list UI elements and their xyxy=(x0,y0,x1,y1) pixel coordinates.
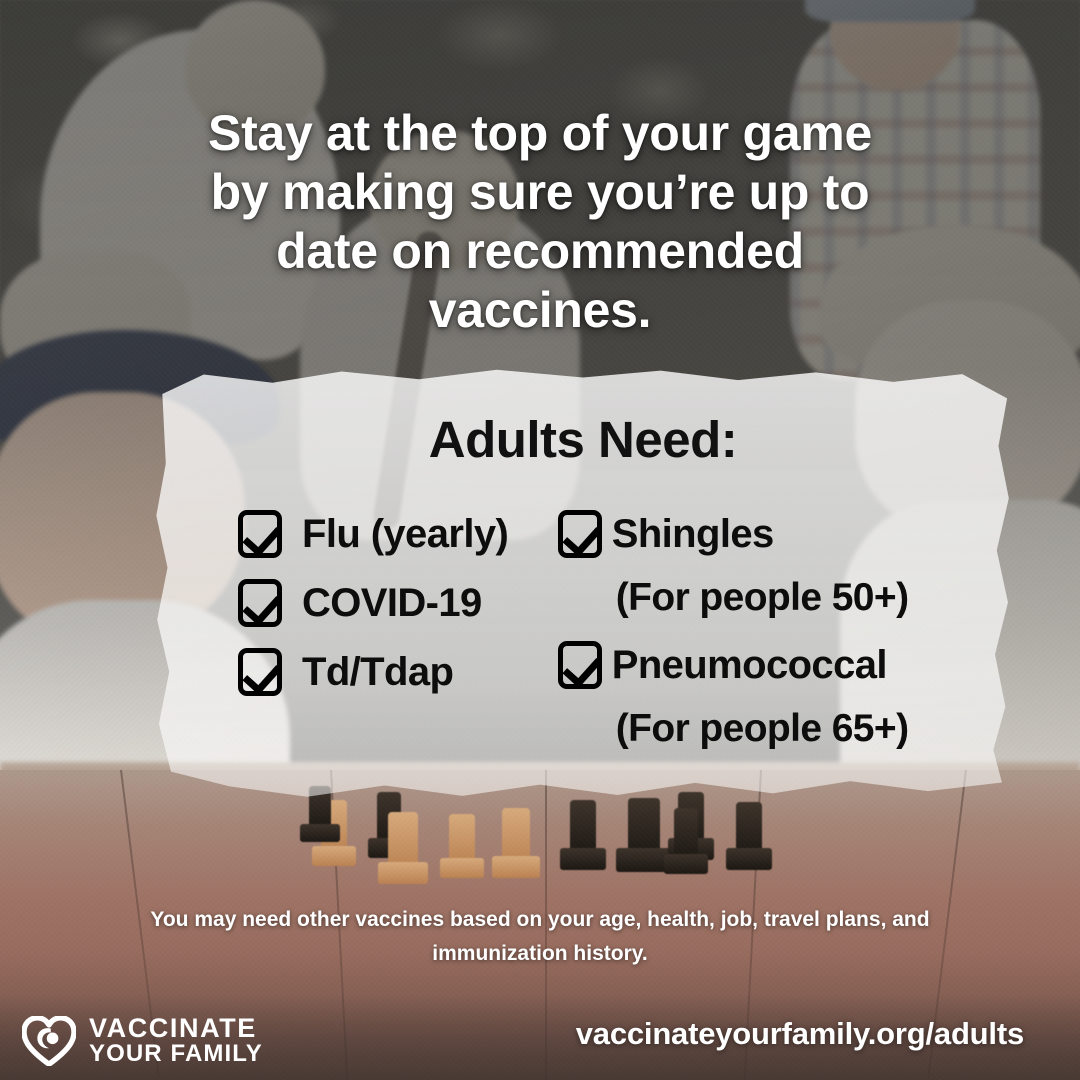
checklist-item[interactable]: Shingles xyxy=(558,507,974,561)
checklist-item-label: Pneumococcal xyxy=(612,643,887,688)
checklist-item-note: (For people 65+) xyxy=(616,707,974,755)
card-title: Adults Need: xyxy=(192,410,974,469)
vaccine-checklist: Flu (yearly) COVID-19 Td/Tdap Shingles (… xyxy=(192,507,974,769)
checklist-item-label: Shingles xyxy=(612,512,774,557)
checklist-item[interactable]: Td/Tdap xyxy=(238,645,558,699)
headline-line-3: date on recommended xyxy=(66,222,1014,281)
checklist-column-left: Flu (yearly) COVID-19 Td/Tdap xyxy=(238,507,558,769)
checkbox-checked-icon[interactable] xyxy=(558,641,602,689)
checkbox-checked-icon[interactable] xyxy=(558,510,602,558)
brand-name-line-2: YOUR FAMILY xyxy=(89,1040,263,1067)
disclaimer-line-1: You may need other vaccines based on you… xyxy=(62,903,1018,937)
brand-name: VACCINATE YOUR FAMILY xyxy=(89,1015,263,1066)
checklist-item-note: (For people 50+) xyxy=(616,576,974,624)
brand-bar: VACCINATE YOUR FAMILY vaccinateyourfamil… xyxy=(0,994,1080,1080)
checklist-column-right: Shingles (For people 50+) Pneumococcal (… xyxy=(558,507,974,769)
disclaimer-line-2: immunization history. xyxy=(62,937,1018,971)
headline-line-1: Stay at the top of your game xyxy=(66,104,1014,163)
checklist-item[interactable]: Pneumococcal xyxy=(558,638,974,692)
brand-logo[interactable]: VACCINATE YOUR FAMILY xyxy=(22,1015,263,1066)
vaccine-card-content: Adults Need: Flu (yearly) COVID-19 Td/Td… xyxy=(152,368,1014,802)
brand-name-line-1: VACCINATE xyxy=(89,1013,257,1043)
checkbox-checked-icon[interactable] xyxy=(238,648,282,696)
checkbox-checked-icon[interactable] xyxy=(238,579,282,627)
disclaimer-text: You may need other vaccines based on you… xyxy=(62,903,1018,971)
checkbox-checked-icon[interactable] xyxy=(238,510,282,558)
checklist-item[interactable]: Flu (yearly) xyxy=(238,507,558,561)
website-url[interactable]: vaccinateyourfamily.org/adults xyxy=(576,1016,1024,1052)
headline: Stay at the top of your game by making s… xyxy=(0,104,1080,340)
headline-line-2: by making sure you’re up to xyxy=(66,163,1014,222)
checklist-item-label: Td/Tdap xyxy=(302,650,453,695)
checklist-item-label: COVID-19 xyxy=(302,581,482,626)
headline-line-4: vaccines. xyxy=(66,281,1014,340)
checklist-item-label: Flu (yearly) xyxy=(302,512,508,557)
heart-swirl-logo-icon xyxy=(22,1016,76,1066)
checklist-item[interactable]: COVID-19 xyxy=(238,576,558,630)
